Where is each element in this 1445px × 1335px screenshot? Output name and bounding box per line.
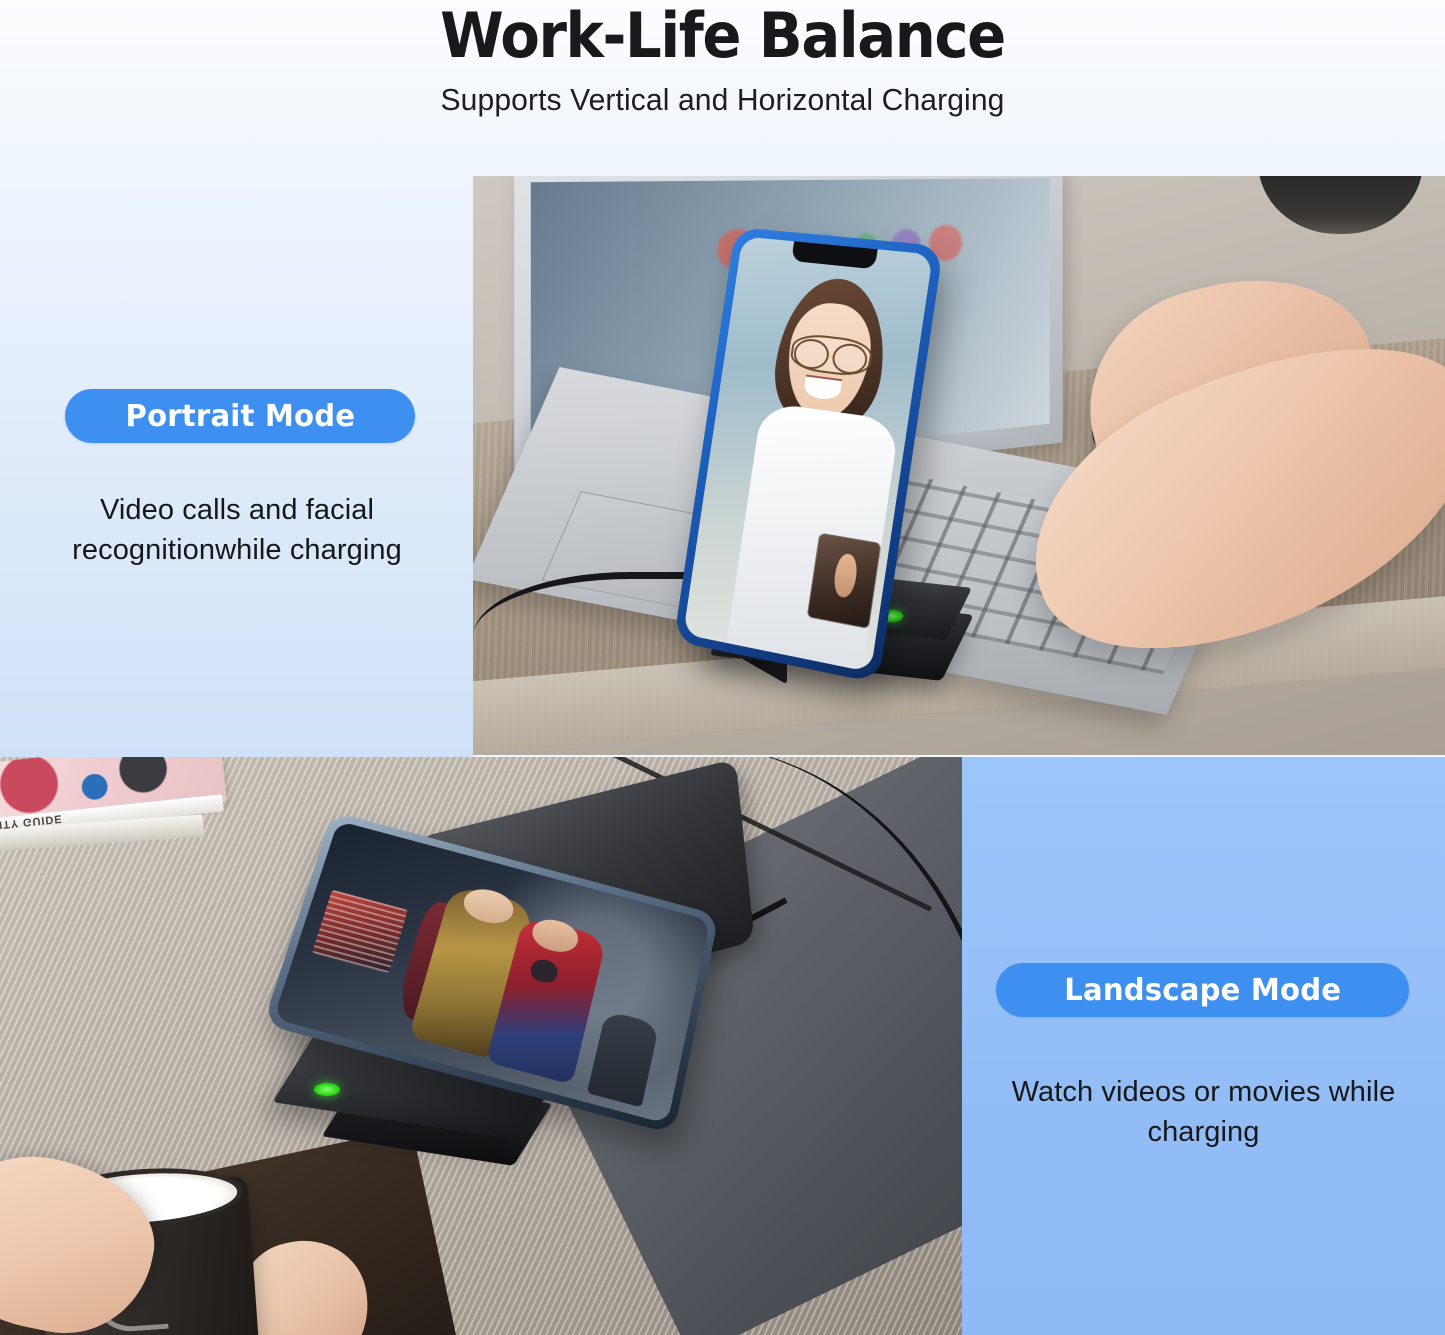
landscape-mode-text-panel: Landscape Mode Watch videos or movies wh… (962, 757, 1445, 1335)
portrait-mode-badge-label: Portrait Mode (125, 399, 355, 434)
product-feature-image: Work-Life Balance Supports Vertical and … (0, 0, 1445, 1335)
picture-in-picture-tile (807, 533, 882, 629)
landscape-mode-description: Watch videos or movies while charging (976, 1072, 1431, 1152)
led-indicator-icon (314, 1083, 340, 1096)
dark-bowl (1258, 176, 1423, 234)
portrait-mode-photo (473, 176, 1445, 755)
portrait-mode-badge: Portrait Mode (65, 389, 415, 443)
portrait-mode-description: Video calls and facial recognitionwhile … (12, 490, 462, 570)
landscape-mode-badge-label: Landscape Mode (1064, 973, 1341, 1008)
portrait-mode-text-panel: Portrait Mode Video calls and facial rec… (0, 176, 473, 757)
header: Work-Life Balance Supports Vertical and … (0, 0, 1445, 176)
landscape-mode-badge: Landscape Mode (996, 963, 1409, 1017)
landscape-mode-photo: CITY GUIDE (0, 757, 962, 1335)
pip-face (832, 553, 859, 600)
page-title: Work-Life Balance (51, 0, 1395, 70)
page-subtitle: Supports Vertical and Horizontal Chargin… (22, 70, 1424, 118)
magazines: CITY GUIDE (0, 757, 230, 860)
